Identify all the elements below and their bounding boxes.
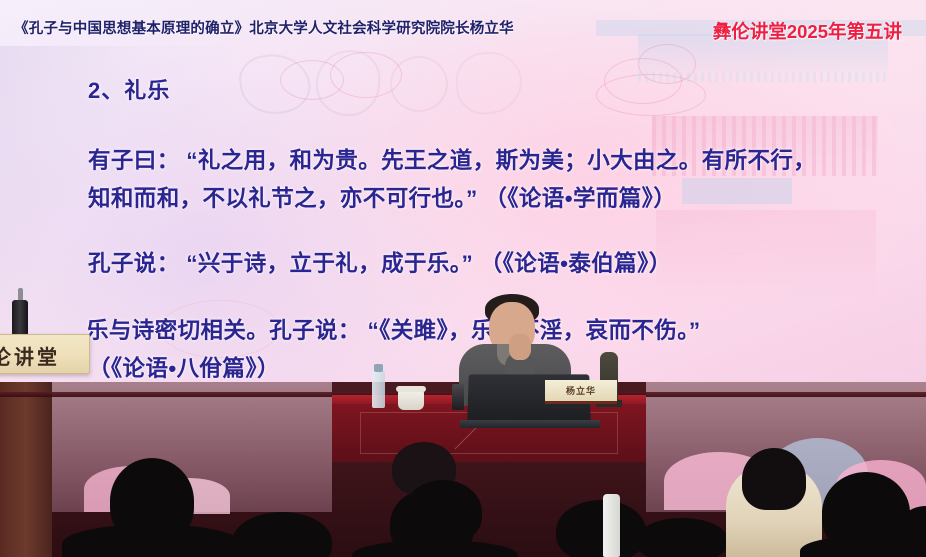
mug-lid [396, 386, 426, 392]
speaker-hand [509, 334, 531, 360]
water-bottle-icon [603, 494, 620, 557]
nameplate-icon: 杨立华 [545, 380, 617, 404]
hall-name-banner-text: 伦讲堂 [0, 341, 60, 370]
slide-paragraph-line: 有子曰： “礼之用，和为贵。先王之道，斯为美；小大由之。有所不行， [88, 143, 816, 175]
nameplate-text: 杨立华 [566, 384, 596, 397]
slide-paragraph-line: （《论语•八佾篇》） [88, 351, 280, 383]
audience-silhouettes [0, 440, 926, 557]
slide-heading: 2、礼乐 [88, 73, 170, 105]
microphone-icon [12, 300, 28, 336]
slide-paragraph-line: 知和而和，不以礼节之，亦不可行也。” （《论语•学而篇》） [88, 181, 676, 213]
water-bottle-cap [374, 364, 383, 372]
series-badge: 彝伦讲堂2025年第五讲 [713, 18, 902, 44]
slide-paragraph-line: 孔子说： “兴于诗，立于礼，成于乐。” （《论语•泰伯篇》） [88, 246, 672, 278]
video-frame: 《孔子与中国思想基本原理的确立》北京大学人文社会科学研究院院长杨立华 彝伦讲堂2… [0, 0, 926, 557]
lecture-title: 《孔子与中国思想基本原理的确立》北京大学人文社会科学研究院院长杨立华 [14, 17, 514, 38]
hall-name-banner: 伦讲堂 [0, 334, 90, 374]
water-bottle-icon [372, 370, 385, 408]
audience-head [636, 518, 728, 557]
laptop-base [460, 420, 600, 428]
table-microphone-icon [452, 384, 464, 410]
audience-head [556, 500, 646, 557]
slide-paragraph-line: 乐与诗密切相关。孔子说： “《关雎》，乐而不淫，哀而不伤。” [86, 313, 701, 345]
audience-head [742, 448, 806, 510]
mug-icon [398, 390, 424, 410]
audience-shoulders [62, 524, 242, 557]
header-bar: 《孔子与中国思想基本原理的确立》北京大学人文社会科学研究院院长杨立华 彝伦讲堂2… [0, 0, 926, 50]
audience-head [404, 480, 482, 544]
audience-head [232, 512, 332, 557]
